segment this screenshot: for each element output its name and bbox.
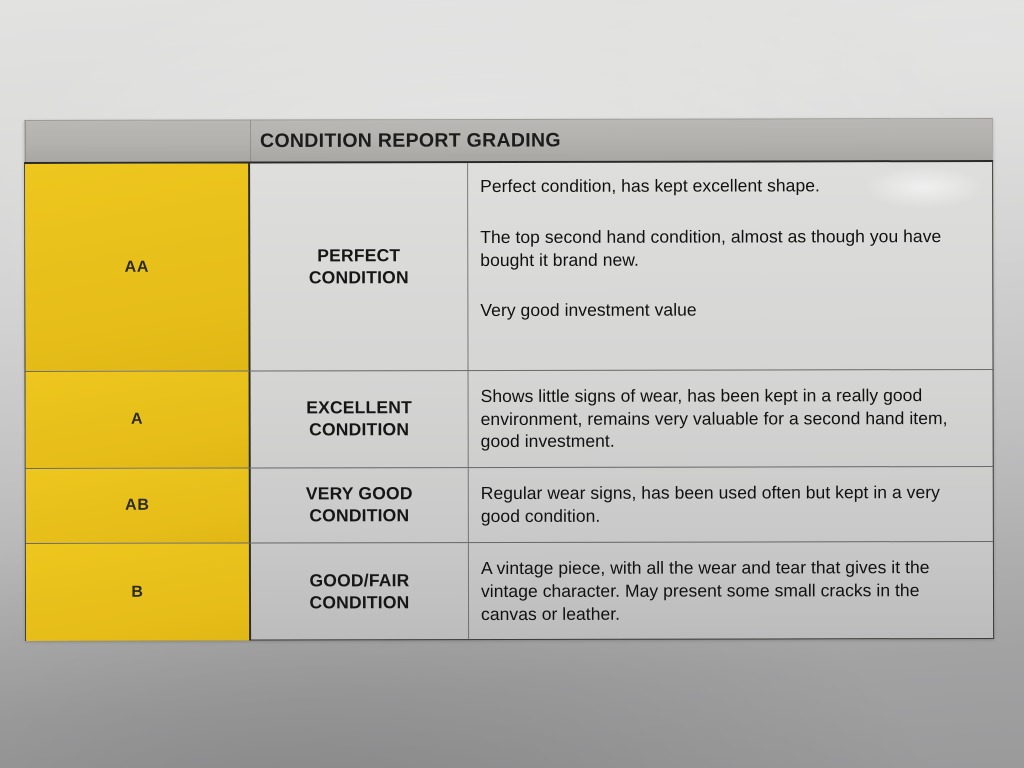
condition-name-cell-b: GOOD/FAIR CONDITION — [251, 543, 469, 640]
title-band-divider-0 — [25, 121, 26, 162]
table-row: AA PERFECT CONDITION Perfect condition, … — [25, 162, 992, 372]
grade-cell-a: A — [26, 372, 251, 468]
condition-name-label: PERFECT CONDITION — [309, 245, 409, 289]
description-paragraph: Very good investment value — [480, 298, 974, 322]
description-paragraph: A vintage piece, with all the wear and t… — [481, 556, 975, 625]
grade-cell-b: B — [26, 544, 251, 641]
description-cell-a: Shows little signs of wear, has been kep… — [469, 370, 993, 467]
table-title-band: CONDITION REPORT GRADING — [24, 118, 993, 162]
description-paragraph: Shows little signs of wear, has been kep… — [481, 384, 975, 453]
condition-name-label: GOOD/FAIR CONDITION — [309, 570, 409, 614]
table-row: A EXCELLENT CONDITION Shows little signs… — [26, 370, 993, 469]
condition-report-grading-table: CONDITION REPORT GRADING AA PERFECT COND… — [24, 118, 994, 641]
table-row: AB VERY GOOD CONDITION Regular wear sign… — [26, 467, 993, 544]
grade-cell-aa: AA — [25, 164, 250, 371]
description-paragraph: Perfect condition, has kept excellent sh… — [480, 174, 974, 198]
condition-name-cell-a: EXCELLENT CONDITION — [251, 371, 469, 467]
condition-name-cell-ab: VERY GOOD CONDITION — [251, 468, 469, 542]
title-band-divider-1 — [250, 121, 251, 162]
description-cell-aa: Perfect condition, has kept excellent sh… — [468, 162, 992, 370]
condition-name-label: EXCELLENT CONDITION — [306, 398, 412, 442]
grade-cell-ab: AB — [26, 469, 251, 543]
condition-name-label: VERY GOOD CONDITION — [306, 483, 413, 527]
page-title: CONDITION REPORT GRADING — [260, 129, 561, 153]
grade-label: B — [131, 583, 143, 601]
description-paragraph: The top second hand condition, almost as… — [480, 225, 974, 272]
description-cell-ab: Regular wear signs, has been used often … — [469, 467, 993, 542]
condition-name-cell-aa: PERFECT CONDITION — [250, 163, 468, 370]
grade-label: A — [131, 411, 143, 429]
photographed-document: CONDITION REPORT GRADING AA PERFECT COND… — [0, 0, 1024, 768]
grading-grid: AA PERFECT CONDITION Perfect condition, … — [24, 160, 994, 641]
table-row: B GOOD/FAIR CONDITION A vintage piece, w… — [26, 542, 993, 641]
description-cell-b: A vintage piece, with all the wear and t… — [469, 542, 993, 640]
description-paragraph: Regular wear signs, has been used often … — [481, 481, 975, 528]
grade-label: AA — [125, 258, 149, 276]
grade-label: AB — [125, 497, 149, 515]
